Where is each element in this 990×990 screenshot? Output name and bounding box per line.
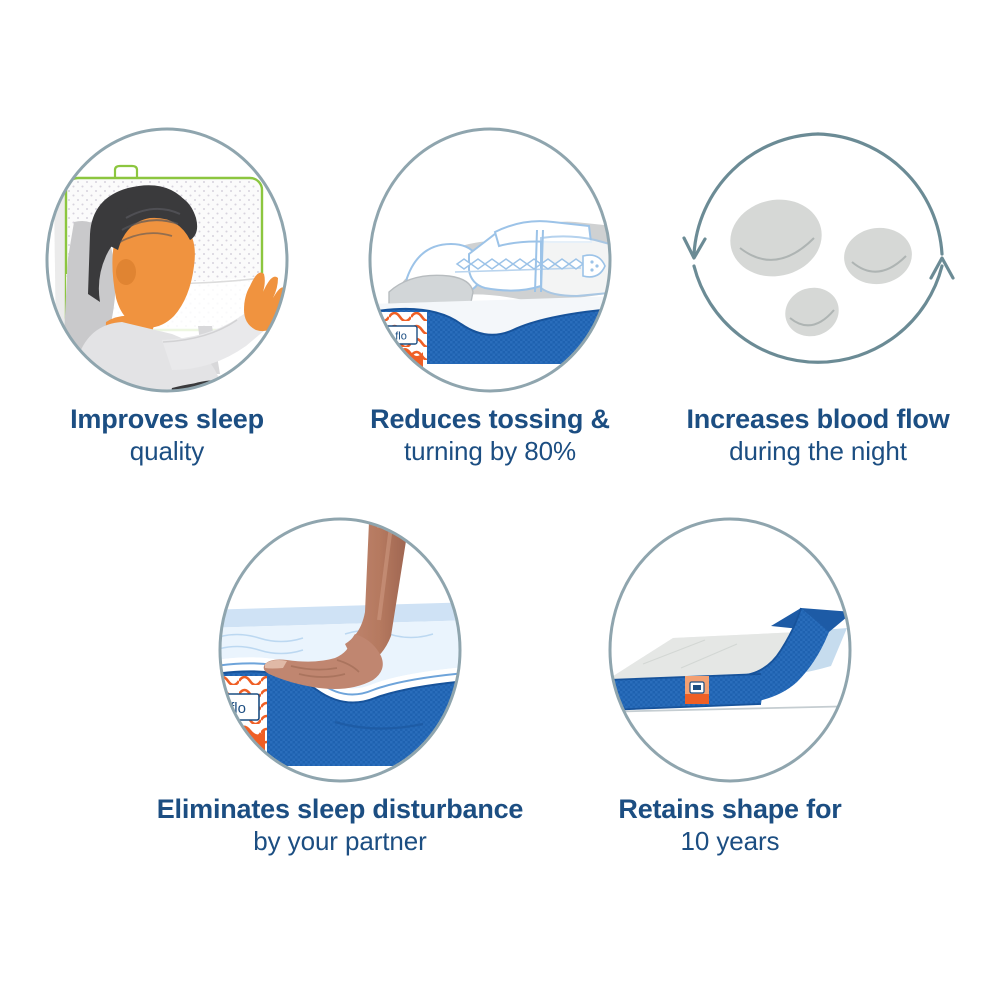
caption-line-1: Retains shape for [618, 794, 841, 824]
caption-line-1: Reduces tossing & [370, 404, 610, 434]
blood-cell-group [723, 191, 915, 343]
blood-circulation-icon [668, 126, 968, 398]
mattress-flex-icon [585, 516, 875, 788]
feature-reduces-tossing-turning: flo Reduces tossing & turning by 80% [345, 126, 635, 466]
caption-line-2: quality [70, 437, 264, 466]
caption-line-1: Improves sleep [70, 404, 264, 434]
feature-eliminates-sleep-disturbance: flo Eliminates sleep [145, 516, 535, 856]
feature-caption: Increases blood flow during the night [686, 404, 949, 466]
person-on-pillow-icon [22, 126, 312, 398]
caption-line-2: by your partner [157, 827, 524, 856]
feature-caption: Improves sleep quality [70, 404, 264, 466]
caption-line-2: turning by 80% [370, 437, 610, 466]
feature-caption: Retains shape for 10 years [618, 794, 841, 856]
spine-alignment-on-mattress-icon: flo [345, 126, 635, 398]
feature-retains-shape: Retains shape for 10 years [570, 516, 890, 856]
feature-caption: Eliminates sleep disturbance by your par… [157, 794, 524, 856]
benefits-board: Improves sleep quality [0, 0, 990, 990]
caption-line-2: during the night [686, 437, 949, 466]
feature-increases-blood-flow: Increases blood flow during the night [668, 126, 968, 466]
caption-line-1: Eliminates sleep disturbance [157, 794, 524, 824]
feature-caption: Reduces tossing & turning by 80% [370, 404, 610, 466]
caption-line-2: 10 years [618, 827, 841, 856]
hand-pressing-mattress-icon: flo [195, 516, 485, 788]
caption-line-1: Increases blood flow [686, 404, 949, 434]
feature-improves-sleep-quality: Improves sleep quality [22, 126, 312, 466]
